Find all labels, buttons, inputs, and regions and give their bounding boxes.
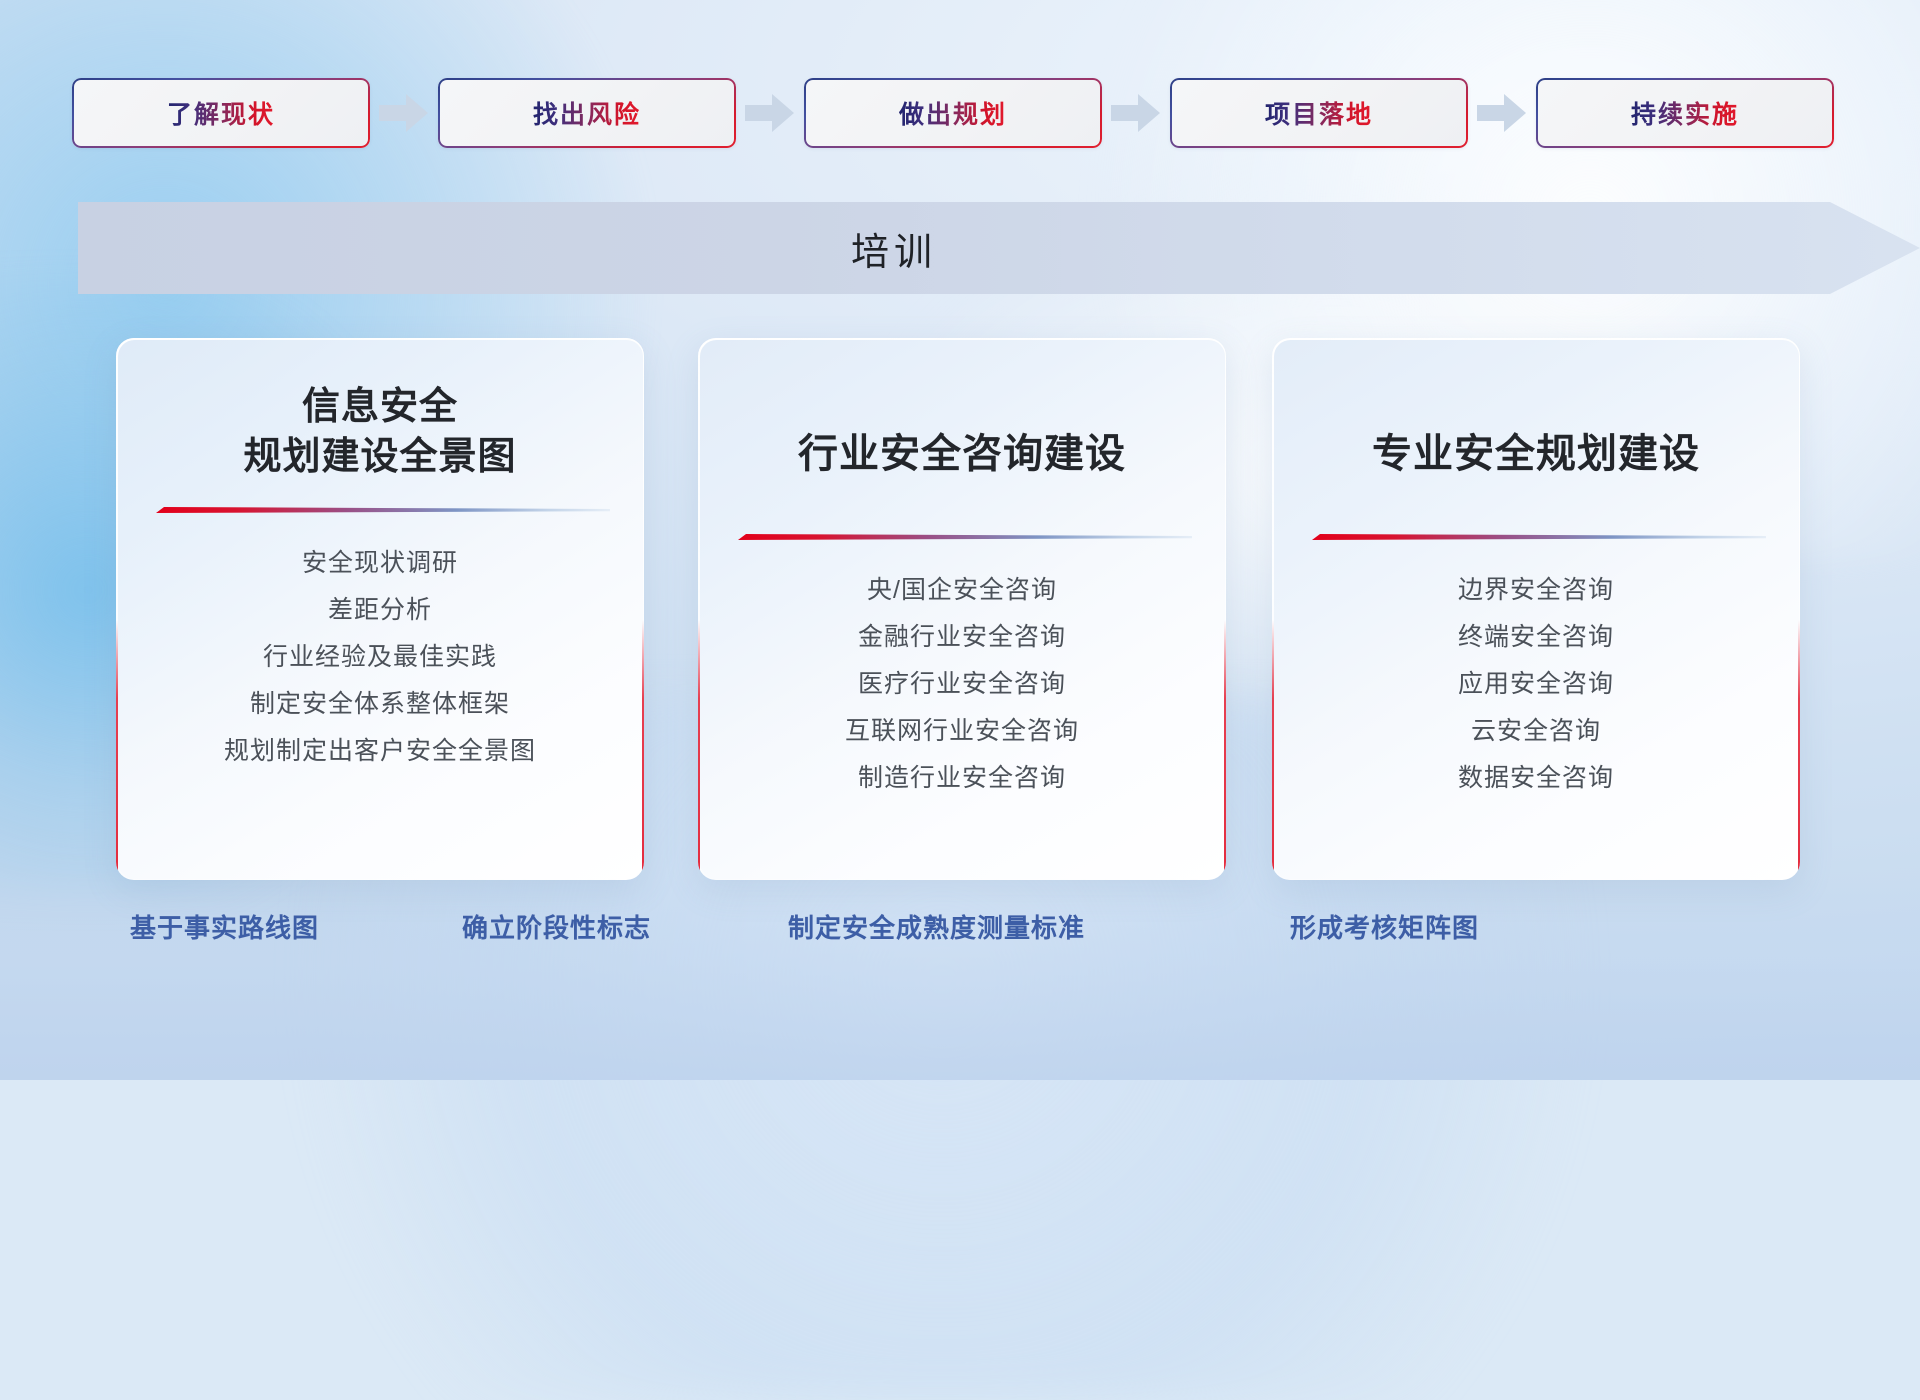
right-arrow-icon — [1102, 87, 1170, 139]
card-divider-3 — [1306, 531, 1766, 543]
card-title-1-line-2: 规划建设全景图 — [243, 436, 516, 478]
card-list-3: 边界安全咨询 终端安全咨询 应用安全咨询 云安全咨询 数据安全咨询 — [1306, 567, 1766, 802]
list-item[interactable]: 医疗行业安全咨询 — [858, 661, 1066, 708]
card-row: 信息安全 规划建设全景图 — [0, 338, 1920, 880]
list-item[interactable]: 互联网行业安全咨询 — [845, 708, 1079, 755]
list-item[interactable]: 金融行业安全咨询 — [858, 614, 1066, 661]
card-left-red-edge — [116, 620, 118, 880]
right-arrow-icon — [736, 87, 804, 139]
step-box-3[interactable]: 做出规划 — [804, 78, 1102, 148]
card-right-red-edge — [1798, 620, 1800, 880]
footnote-3: 制定安全成熟度测量标准 — [788, 908, 1085, 945]
list-item[interactable]: 央/国企安全咨询 — [867, 567, 1057, 614]
step-label-1: 了解现状 — [167, 95, 275, 131]
card-title-3-line-1: 专业安全规划建设 — [1372, 432, 1700, 476]
step-label-4: 项目落地 — [1265, 95, 1373, 131]
card-industry-security-consulting[interactable]: 行业安全咨询建设 — [698, 338, 1226, 880]
background-bottom-band — [0, 870, 1920, 1080]
list-item[interactable]: 边界安全咨询 — [1458, 567, 1614, 614]
list-item[interactable]: 数据安全咨询 — [1458, 755, 1614, 802]
card-right-red-edge — [1224, 620, 1226, 880]
step-box-5[interactable]: 持续实施 — [1536, 78, 1834, 148]
card-title-2-line-1: 行业安全咨询建设 — [798, 432, 1126, 476]
footnote-row: 基于事实路线图 确立阶段性标志 制定安全成熟度测量标准 形成考核矩阵图 — [0, 908, 1920, 960]
list-item[interactable]: 应用安全咨询 — [1458, 661, 1614, 708]
step-box-1[interactable]: 了解现状 — [72, 78, 370, 148]
step-label-3: 做出规划 — [899, 95, 1007, 131]
card-left-red-edge — [698, 620, 700, 880]
list-item[interactable]: 安全现状调研 — [302, 540, 458, 587]
list-item[interactable]: 行业经验及最佳实践 — [263, 634, 497, 681]
right-arrow-icon — [1468, 87, 1536, 139]
card-divider-1 — [150, 504, 610, 516]
step-box-4[interactable]: 项目落地 — [1170, 78, 1468, 148]
list-item[interactable]: 云安全咨询 — [1471, 708, 1601, 755]
card-title-2: 行业安全咨询建设 — [798, 428, 1126, 481]
process-step-row: 了解现状 找出风险 做出规划 项目落地 持续实施 — [72, 78, 1860, 148]
footnote-1: 基于事实路线图 — [130, 908, 319, 945]
step-label-5: 持续实施 — [1631, 95, 1739, 131]
card-title-1: 信息安全 规划建设全景图 — [243, 382, 516, 482]
banner-title: 培训 — [78, 202, 1710, 294]
card-title-3: 专业安全规划建设 — [1372, 428, 1700, 481]
card-professional-security-planning[interactable]: 专业安全规划建设 — [1272, 338, 1800, 880]
footnote-2: 确立阶段性标志 — [462, 908, 651, 945]
list-item[interactable]: 制造行业安全咨询 — [858, 755, 1066, 802]
list-item[interactable]: 制定安全体系整体框架 — [250, 681, 510, 728]
footnote-4: 形成考核矩阵图 — [1290, 908, 1479, 945]
card-divider-2 — [732, 531, 1192, 543]
card-left-red-edge — [1272, 620, 1274, 880]
card-list-2: 央/国企安全咨询 金融行业安全咨询 医疗行业安全咨询 互联网行业安全咨询 制造行… — [732, 567, 1192, 802]
card-list-1: 安全现状调研 差距分析 行业经验及最佳实践 制定安全体系整体框架 规划制定出客户… — [150, 540, 610, 775]
list-item[interactable]: 规划制定出客户安全全景图 — [224, 728, 536, 775]
list-item[interactable]: 终端安全咨询 — [1458, 614, 1614, 661]
card-information-security-blueprint[interactable]: 信息安全 规划建设全景图 — [116, 338, 644, 880]
card-title-1-line-1: 信息安全 — [302, 386, 458, 428]
step-box-2[interactable]: 找出风险 — [438, 78, 736, 148]
list-item[interactable]: 差距分析 — [328, 587, 432, 634]
training-banner: 培训 — [78, 202, 1920, 294]
step-label-2: 找出风险 — [533, 95, 641, 131]
card-right-red-edge — [642, 620, 644, 880]
right-arrow-icon — [370, 87, 438, 139]
